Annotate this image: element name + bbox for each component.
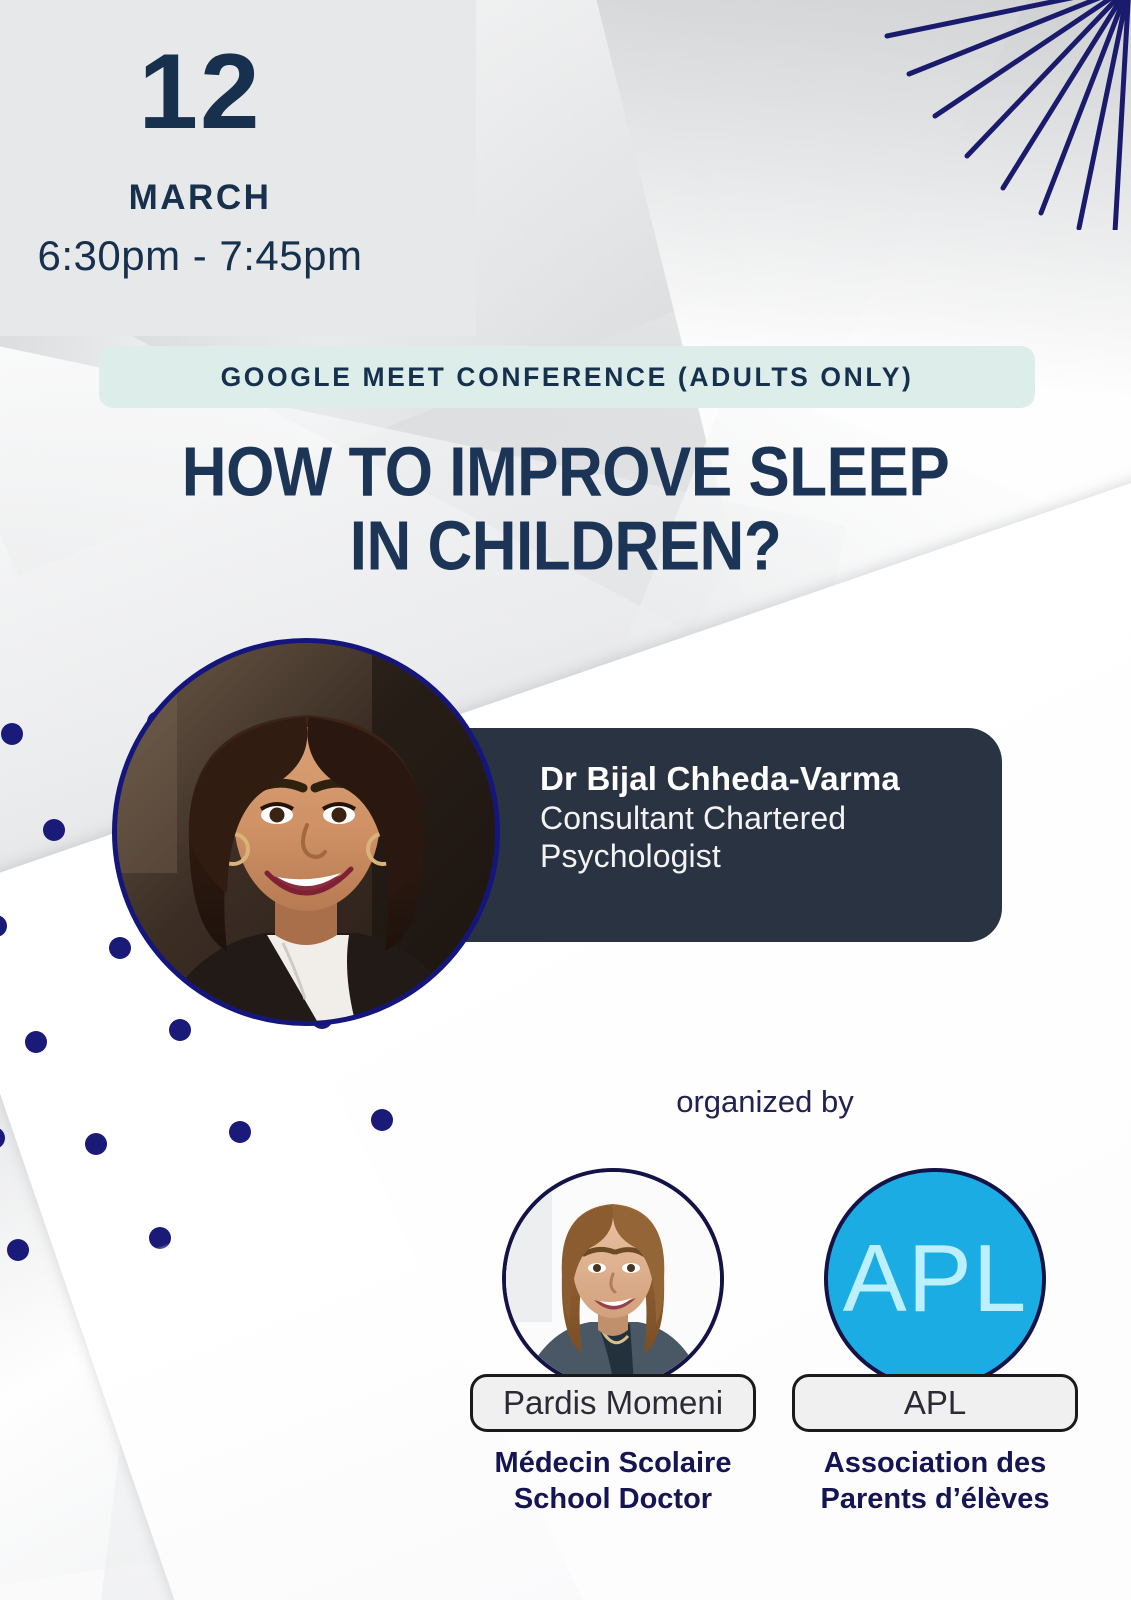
page-title: HOW TO IMPROVE SLEEP IN CHILDREN?	[0, 436, 1131, 585]
organizer-apl: APL APL Association des Parents d’élèves	[790, 1168, 1080, 1518]
title-line-1: HOW TO IMPROVE SLEEP	[0, 436, 1131, 510]
organized-by-label: organized by	[600, 1084, 930, 1120]
date-time-range: 6:30pm - 7:45pm	[0, 232, 400, 280]
apl-logo-icon: APL	[824, 1168, 1046, 1390]
organizer-name-label: APL	[904, 1384, 966, 1422]
organizer-subtitle: Association des Parents d’élèves	[790, 1446, 1080, 1518]
organizer-pardis-momeni: Pardis Momeni Médecin Scolaire School Do…	[468, 1168, 758, 1518]
speaker-role-line-1: Consultant Chartered	[540, 799, 962, 837]
speaker-portrait	[112, 638, 500, 1026]
conference-type-banner: GOOGLE MEET CONFERENCE (ADULTS ONLY)	[99, 346, 1035, 408]
speaker-role-line-2: Psychologist	[540, 837, 962, 875]
organizer-subtitle-line-1: Médecin Scolaire	[468, 1446, 758, 1482]
pardis-momeni-portrait	[502, 1168, 724, 1390]
title-line-2: IN CHILDREN?	[0, 510, 1131, 584]
date-panel: 12 MARCH 6:30pm - 7:45pm	[0, 0, 476, 336]
event-poster: 12 MARCH 6:30pm - 7:45pm GOOGLE MEET CON…	[0, 0, 1131, 1600]
date-day-number: 12	[0, 38, 400, 145]
date-month-label: MARCH	[0, 178, 400, 218]
apl-logo-text: APL	[843, 1231, 1027, 1327]
organizer-name-pill: Pardis Momeni	[470, 1374, 756, 1432]
conference-type-label: GOOGLE MEET CONFERENCE (ADULTS ONLY)	[221, 362, 914, 393]
organizer-name-pill: APL	[792, 1374, 1078, 1432]
organizer-subtitle-line-2: School Doctor	[468, 1482, 758, 1518]
speaker-name: Dr Bijal Chheda-Varma	[540, 760, 962, 799]
organizer-name-label: Pardis Momeni	[503, 1384, 723, 1422]
organizer-subtitle-line-1: Association des	[790, 1446, 1080, 1482]
organizer-subtitle-line-2: Parents d’élèves	[790, 1482, 1080, 1518]
organizer-subtitle: Médecin Scolaire School Doctor	[468, 1446, 758, 1518]
